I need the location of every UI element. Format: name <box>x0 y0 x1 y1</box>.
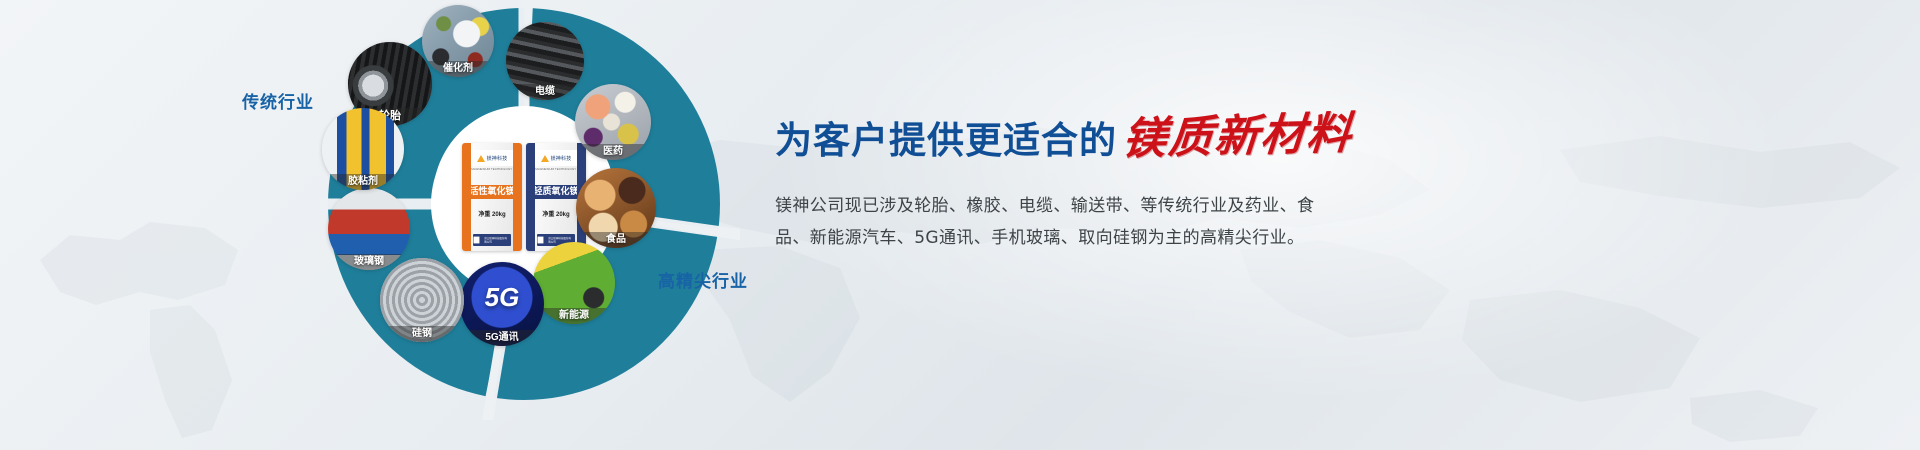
industry-node-adhesive[interactable]: 胶粘剂 <box>322 108 404 190</box>
product-bag-active-mgo: 镁神科技 MAGNESIUM TECHNOLOGY 活性氧化镁 净重 20kg … <box>462 143 522 251</box>
node-label: 硅钢 <box>380 326 464 342</box>
qr-code-icon <box>473 237 479 244</box>
bag-company-footer: 营口镁神科技股份有限公司 <box>473 234 511 246</box>
node-label: 电缆 <box>506 84 584 100</box>
headline-plain-text: 为客户提供更适合的 <box>775 110 1117 164</box>
bag-brand-sub: MAGNESIUM TECHNOLOGY <box>536 167 577 171</box>
industry-node-new-energy[interactable]: 新能源 <box>533 242 615 324</box>
industry-node-5g[interactable]: 5G 5G通讯 <box>460 262 544 346</box>
industry-node-frp[interactable]: 玻璃钢 <box>328 188 410 270</box>
hero-banner: 镁神科技 MAGNESIUM TECHNOLOGY 活性氧化镁 净重 20kg … <box>0 0 1920 450</box>
node-label: 胶粘剂 <box>322 174 404 190</box>
node-label: 催化剂 <box>422 61 494 77</box>
industry-node-cable[interactable]: 电缆 <box>506 22 584 100</box>
bag-brand-logo: 镁神科技 <box>534 150 578 166</box>
node-label: 玻璃钢 <box>328 254 410 270</box>
bag-weight: 净重 20kg <box>542 209 569 218</box>
bag-weight: 净重 20kg <box>478 209 505 218</box>
bag-brand-name: 镁神科技 <box>551 155 572 162</box>
bag-product-name: 活性氧化镁 <box>466 185 517 199</box>
bag-brand-name: 镁神科技 <box>487 155 508 162</box>
bag-product-name: 轻质氧化镁 <box>530 185 581 199</box>
banner-copy: 为客户提供更适合的 镁质新材料 镁神公司现已涉及轮胎、橡胶、电缆、输送带、等传统… <box>775 100 1575 254</box>
industry-node-silicon-steel[interactable]: 硅钢 <box>380 258 464 342</box>
node-label: 5G通讯 <box>460 330 544 346</box>
bag-brand-sub: MAGNESIUM TECHNOLOGY <box>472 167 513 171</box>
node-label: 医药 <box>575 144 651 160</box>
section-label-advanced: 高精尖行业 <box>658 267 748 292</box>
section-label-traditional: 传统行业 <box>242 88 314 113</box>
banner-headline: 为客户提供更适合的 镁质新材料 <box>775 100 1575 164</box>
industry-node-medicine[interactable]: 医药 <box>575 84 651 160</box>
bag-company-name: 营口镁神科技股份有限公司 <box>484 237 509 244</box>
node-label: 新能源 <box>533 308 615 324</box>
banner-paragraph: 镁神公司现已涉及轮胎、橡胶、电缆、输送带、等传统行业及药业、食品、新能源汽车、5… <box>775 190 1335 254</box>
industry-node-food[interactable]: 食品 <box>576 168 656 248</box>
bag-brand-logo: 镁神科技 <box>470 150 514 166</box>
industry-circle-diagram: 镁神科技 MAGNESIUM TECHNOLOGY 活性氧化镁 净重 20kg … <box>320 0 740 420</box>
industry-node-catalyst[interactable]: 催化剂 <box>422 5 494 77</box>
headline-brush-text: 镁质新材料 <box>1120 97 1356 167</box>
